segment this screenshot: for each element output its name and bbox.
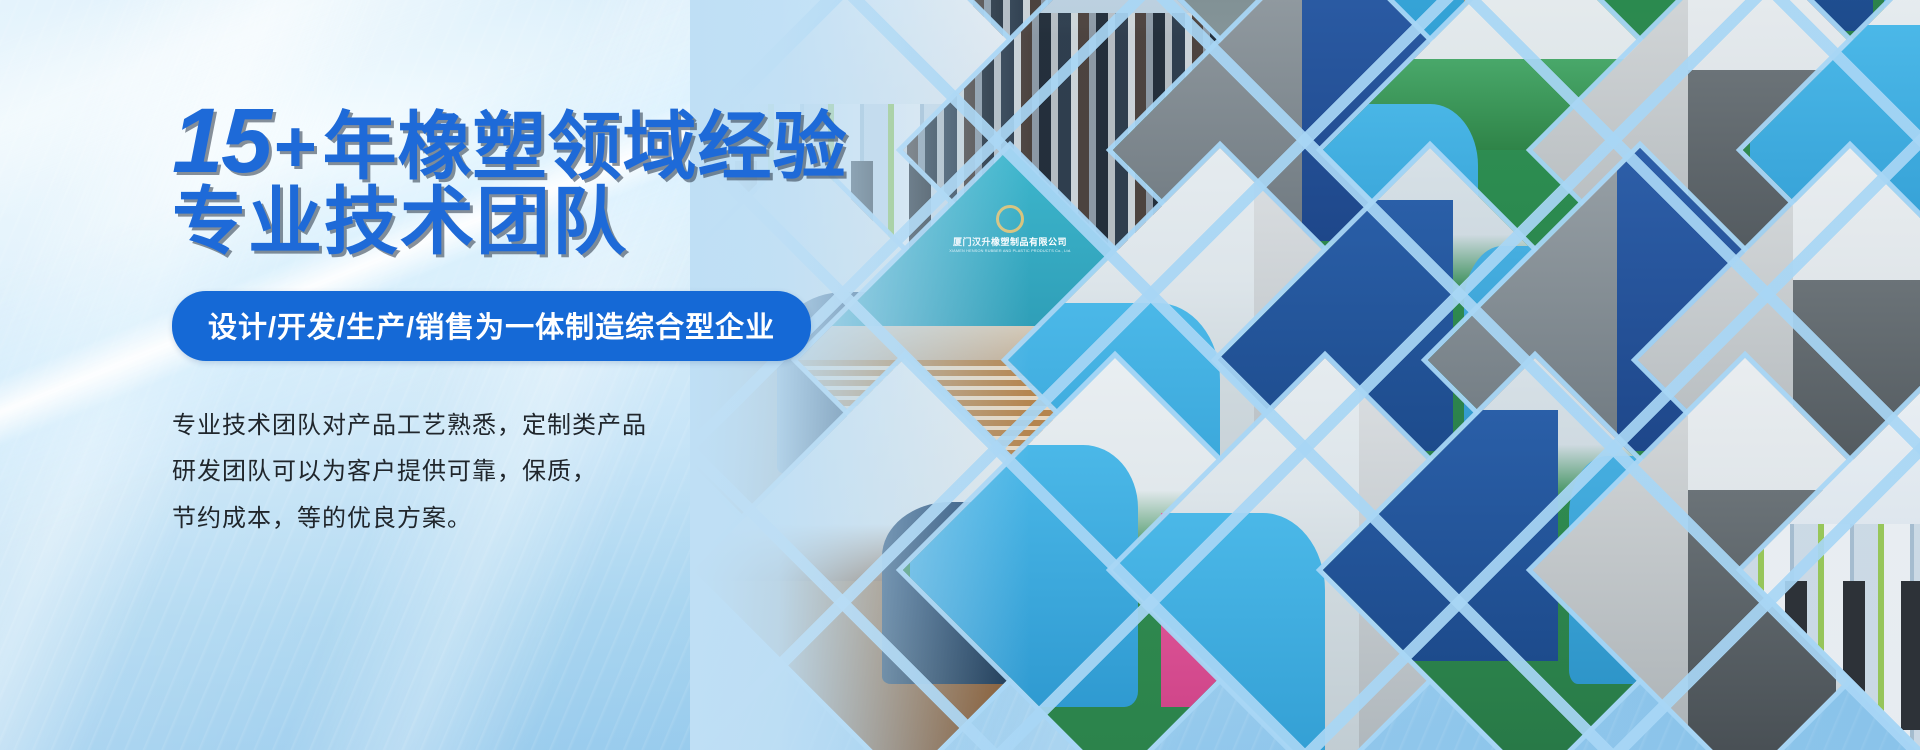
description-block: 专业技术团队对产品工艺熟悉，定制类产品 研发团队可以为客户提供可靠，保质， 节约… [172, 403, 932, 543]
page-title: 15 + 年橡塑领域经验 专业技术团队 [172, 0, 932, 259]
promo-banner: 厦门汉升橡塑制品有限公司 XIAMEN HENSON RUBBER AND PL… [0, 0, 1920, 750]
description-line-1: 专业技术团队对产品工艺熟悉，定制类产品 [172, 403, 932, 450]
years-plus-sign: + [272, 111, 316, 184]
description-line-3: 节约成本，等的优良方案。 [172, 496, 932, 543]
headline-line-1: 15 + 年橡塑领域经验 [172, 96, 932, 186]
tagline-badge: 设计/开发/生产/销售为一体制造综合型企业 [172, 291, 811, 361]
headline-line-1-text: 年橡塑领域经验 [323, 111, 848, 184]
description-line-2: 研发团队可以为客户提供可靠，保质， [172, 449, 932, 496]
banner-text-column: 15 + 年橡塑领域经验 专业技术团队 设计/开发/生产/销售为一体制造综合型企… [172, 0, 932, 750]
years-number: 15 [172, 96, 270, 186]
headline-line-2: 专业技术团队 [172, 180, 628, 263]
